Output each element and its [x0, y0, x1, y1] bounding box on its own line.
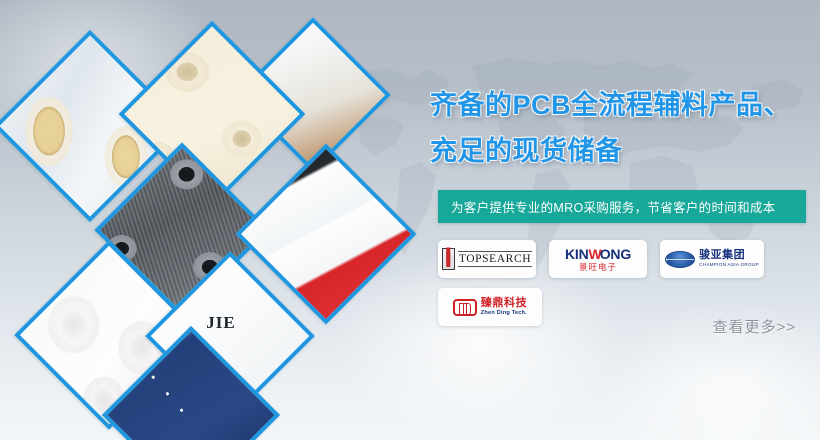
- view-more-link[interactable]: 查看更多>>: [712, 316, 796, 337]
- banner-content: 齐备的PCB全流程辅料产品、 充足的现货储备 为客户提供专业的MRO采购服务，节…: [430, 0, 820, 440]
- banner-subtitle-bar: 为客户提供专业的MRO采购服务，节省客户的时间和成本: [438, 190, 806, 223]
- kinwong-chinese-name: 景旺电子: [565, 263, 631, 272]
- client-logo-champion-asia[interactable]: 骏亚集团 CHAMPION ASIA GROUP: [660, 240, 764, 278]
- client-logo-kinwong[interactable]: KINWONG 景旺电子: [549, 240, 647, 278]
- banner-subtitle-text: 为客户提供专业的MRO采购服务，节省客户的时间和成本: [451, 197, 775, 216]
- product-collage: JIE: [0, 0, 420, 440]
- client-logo-zhending[interactable]: 臻鼎科技 Zhen Ding Tech.: [438, 288, 542, 326]
- printed-sheet-label: JIE: [206, 313, 235, 333]
- kinwong-wordmark: KINWONG: [565, 247, 631, 261]
- kinwong-text-b: ONG: [600, 246, 631, 262]
- client-logo-row-1: TOPSEARCH KINWONG 景旺电子 骏亚集团 CHAMPION ASI: [438, 240, 818, 278]
- client-logo-topsearch[interactable]: TOPSEARCH: [438, 240, 536, 278]
- zhending-chinese-name: 臻鼎科技: [481, 298, 527, 309]
- kinwong-text-a: KIN: [565, 246, 589, 262]
- zhending-english-name: Zhen Ding Tech.: [481, 311, 527, 317]
- banner-headline: 齐备的PCB全流程辅料产品、 充足的现货储备: [430, 82, 820, 174]
- champion-asia-english-name: CHAMPION ASIA GROUP: [699, 263, 759, 268]
- topsearch-wordmark: TOPSEARCH: [458, 251, 532, 267]
- kinwong-text-w: W: [589, 246, 600, 262]
- promo-banner: JIE 齐备的PCB全流程辅料产品、 充足的现货储备 为客户提供专业的MRO采购…: [0, 0, 820, 440]
- champion-asia-chinese-name: 骏亚集团: [699, 250, 759, 261]
- topsearch-mark-icon: [442, 248, 455, 270]
- globe-icon: [665, 251, 695, 268]
- zhending-mark-icon: [453, 299, 477, 316]
